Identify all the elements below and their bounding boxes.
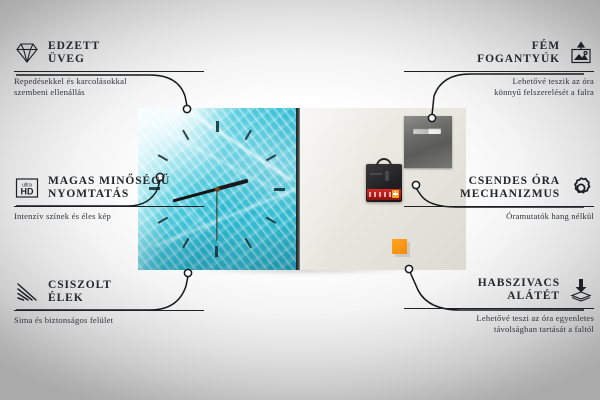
ultra-hd-icon: ultra HD: [14, 175, 40, 201]
feature-magas-minosegu-nyomtatas: ultra HD MAGAS MINŐSÉGŰ NYOMTATÁS Intenz…: [14, 173, 204, 222]
diamond-icon: [14, 40, 40, 66]
feature-divider: [14, 71, 204, 72]
mechanism-notch: [385, 171, 389, 181]
feature-header: CSISZOLT ÉLEK: [14, 277, 204, 307]
infographic-canvas: EDZETT ÜVEG Repedésekkel és karcolásokka…: [0, 0, 600, 400]
feature-header: HABSZIVACS ALÁTÉT: [404, 275, 594, 305]
mechanism-hook: [376, 158, 392, 167]
feature-description: Lehetővé teszi az óra egyenletes távolsá…: [404, 313, 594, 335]
feature-header: EDZETT ÜVEG: [14, 38, 204, 68]
hanger-slot: [413, 128, 441, 134]
feature-divider: [14, 206, 204, 207]
feature-fem-foganytuk: FÉM FOGANTYÚK Lehetővé teszik az óra kön…: [404, 38, 594, 98]
feature-divider: [14, 310, 204, 311]
battery: [367, 189, 401, 200]
feature-header: CSENDES ÓRA MECHANIZMUS: [404, 173, 594, 203]
foam-pad-arrow-icon: [568, 277, 594, 303]
feature-divider: [404, 308, 594, 309]
feature-edzett-uveg: EDZETT ÜVEG Repedésekkel és karcolásokka…: [14, 38, 204, 98]
mechanism-detail: [370, 173, 382, 175]
clock-center-cap: [215, 187, 220, 192]
feature-csendes-ora-mechanizmus: CSENDES ÓRA MECHANIZMUS Óramutatók hang …: [404, 173, 594, 222]
feature-title: CSISZOLT ÉLEK: [48, 279, 112, 305]
feature-divider: [404, 206, 594, 207]
feature-title: HABSZIVACS ALÁTÉT: [478, 277, 560, 303]
feature-title: EDZETT ÜVEG: [48, 40, 100, 66]
feature-description: Lehetővé teszik az óra könnyű felszerelé…: [404, 76, 594, 98]
battery-plus-terminal: [392, 190, 399, 198]
feature-header: FÉM FOGANTYÚK: [404, 38, 594, 68]
picture-hanger-icon: [568, 40, 594, 66]
feature-description: Sima és biztonságos felület: [14, 315, 204, 326]
gear-icon: [568, 175, 594, 201]
feature-description: Óramutatók hang nélkül: [404, 211, 594, 222]
feature-title: CSENDES ÓRA MECHANIZMUS: [460, 175, 560, 201]
feature-header: ultra HD MAGAS MINŐSÉGŰ NYOMTATÁS: [14, 173, 204, 203]
feature-title: MAGAS MINŐSÉGŰ NYOMTATÁS: [48, 175, 170, 201]
clock-mechanism: [366, 164, 402, 202]
hatch-lines-icon: [14, 279, 40, 305]
svg-text:HD: HD: [21, 187, 34, 197]
feature-habszivacs-alatet: HABSZIVACS ALÁTÉT Lehetővé teszi az óra …: [404, 275, 594, 335]
metal-hanger-plate: [404, 116, 452, 168]
feature-description: Repedésekkel és karcolásokkal szembeni e…: [14, 76, 204, 98]
battery-label-bands: [369, 192, 391, 197]
feature-divider: [404, 71, 594, 72]
feature-title: FÉM FOGANTYÚK: [477, 40, 560, 66]
foam-spacer-pad: [392, 239, 407, 254]
feature-csiszolt-elek: CSISZOLT ÉLEK Sima és biztonságos felüle…: [14, 277, 204, 326]
feature-description: Intenzív színek és éles kép: [14, 211, 204, 222]
